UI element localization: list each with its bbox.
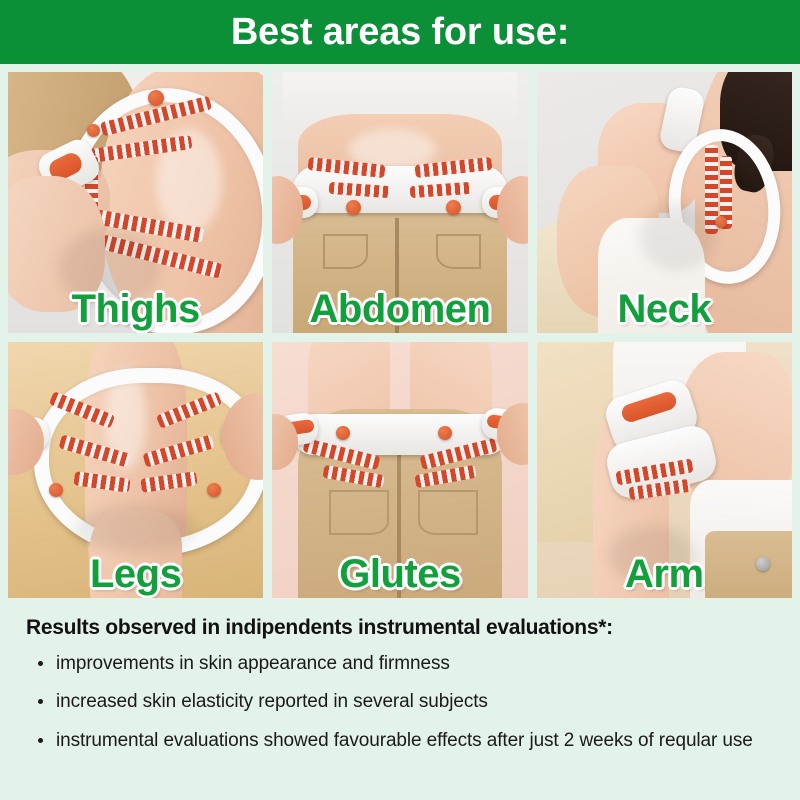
page-title: Best areas for use: [231, 13, 569, 51]
tile-abdomen[interactable]: Abdomen [272, 72, 527, 333]
results-bullet-list: improvements in skin appearance and firm… [26, 652, 774, 753]
tile-label-legs: Legs [8, 554, 263, 594]
tile-arm[interactable]: Arm [537, 342, 792, 598]
areas-grid: Thighs [0, 64, 800, 598]
bullet-dot-icon [38, 738, 43, 743]
list-item: instrumental evaluations showed favourab… [26, 729, 774, 753]
infographic-page: Best areas for use: [0, 0, 800, 800]
bullet-dot-icon [38, 661, 43, 666]
list-item: increased skin elasticity reported in se… [26, 690, 774, 714]
tile-thighs[interactable]: Thighs [8, 72, 263, 333]
tile-label-thighs: Thighs [8, 289, 263, 329]
bullet-text: increased skin elasticity reported in se… [56, 691, 488, 712]
results-title: Results observed in indipendents instrum… [26, 616, 774, 640]
list-item: improvements in skin appearance and firm… [26, 652, 774, 676]
bullet-dot-icon [38, 699, 43, 704]
tile-legs[interactable]: Legs [8, 342, 263, 598]
tile-glutes[interactable]: Glutes [272, 342, 527, 598]
header-banner: Best areas for use: [0, 0, 800, 64]
tile-neck[interactable]: Neck [537, 72, 792, 333]
bullet-text: instrumental evaluations showed favourab… [56, 730, 753, 751]
tile-label-abdomen: Abdomen [272, 289, 527, 329]
tile-label-arm: Arm [537, 554, 792, 594]
results-section: Results observed in indipendents instrum… [0, 598, 800, 800]
tile-label-neck: Neck [537, 289, 792, 329]
tile-label-glutes: Glutes [272, 554, 527, 594]
bullet-text: improvements in skin appearance and firm… [56, 653, 450, 674]
